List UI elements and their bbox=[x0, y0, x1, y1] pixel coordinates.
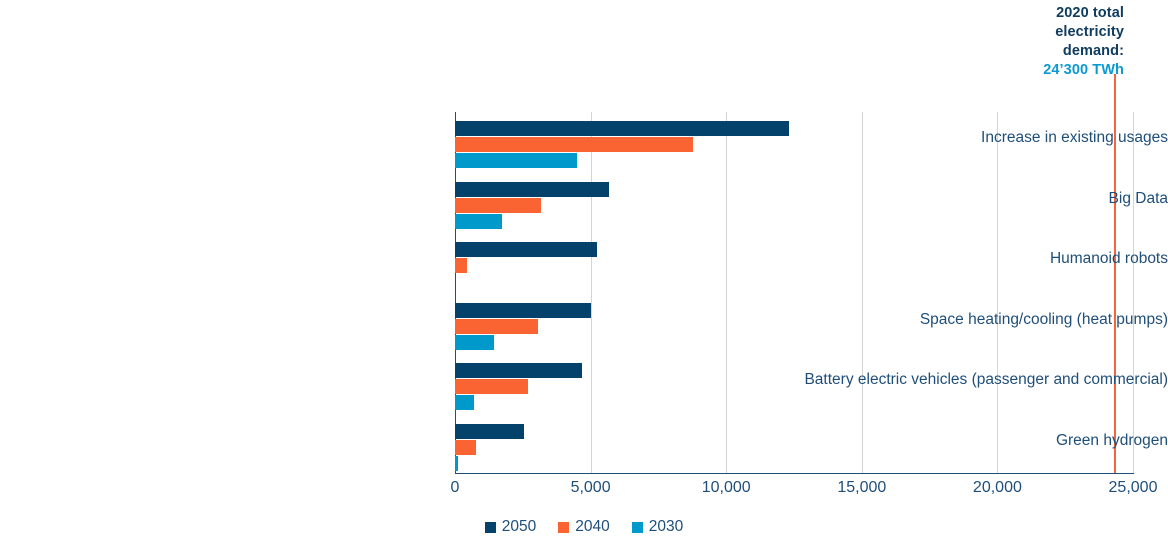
bar-2050[interactable] bbox=[455, 363, 582, 378]
x-tick-label: 0 bbox=[410, 479, 500, 497]
legend-item-2030[interactable]: 2030 bbox=[632, 518, 683, 536]
legend-label: 2030 bbox=[649, 518, 683, 536]
category-label: Increase in existing usages bbox=[728, 129, 1168, 147]
legend-swatch-icon bbox=[632, 522, 643, 533]
total-demand-annotation: 2020 total electricity demand: 24’300 TW… bbox=[924, 4, 1124, 80]
bar-2030[interactable] bbox=[455, 456, 458, 471]
x-tick-label: 25,000 bbox=[1088, 479, 1168, 497]
x-tick-label: 15,000 bbox=[817, 479, 907, 497]
bar-chart: 2020 total electricity demand: 24’300 TW… bbox=[0, 0, 1168, 543]
bar-2040[interactable] bbox=[455, 440, 476, 455]
bar-2040[interactable] bbox=[455, 319, 538, 334]
bar-2040[interactable] bbox=[455, 379, 528, 394]
bar-2030[interactable] bbox=[455, 214, 502, 229]
annotation-line-2: electricity bbox=[1055, 24, 1124, 40]
bar-2030[interactable] bbox=[455, 153, 577, 168]
category-label: Green hydrogen bbox=[728, 432, 1168, 450]
bar-2030[interactable] bbox=[455, 335, 494, 350]
bar-2040[interactable] bbox=[455, 258, 467, 273]
legend-label: 2040 bbox=[575, 518, 609, 536]
category-label: Space heating/cooling (heat pumps) bbox=[728, 311, 1168, 329]
x-tick-label: 10,000 bbox=[681, 479, 771, 497]
annotation-value: 24’300 TWh bbox=[924, 61, 1124, 80]
legend-swatch-icon bbox=[558, 522, 569, 533]
category-label: Battery electric vehicles (passenger and… bbox=[728, 371, 1168, 389]
legend-label: 2050 bbox=[502, 518, 536, 536]
x-axis-line bbox=[455, 473, 1134, 474]
legend-item-2050[interactable]: 2050 bbox=[485, 518, 536, 536]
legend-swatch-icon bbox=[485, 522, 496, 533]
bar-2050[interactable] bbox=[455, 182, 609, 197]
bar-2040[interactable] bbox=[455, 137, 693, 152]
category-label: Humanoid robots bbox=[728, 250, 1168, 268]
bar-2040[interactable] bbox=[455, 198, 541, 213]
x-tick-label: 20,000 bbox=[952, 479, 1042, 497]
legend-item-2040[interactable]: 2040 bbox=[558, 518, 609, 536]
annotation-line-3: demand: bbox=[1063, 43, 1124, 59]
chart-legend: 205020402030 bbox=[0, 518, 1168, 536]
annotation-line-1: 2020 total bbox=[1056, 5, 1124, 21]
bar-2050[interactable] bbox=[455, 242, 597, 257]
category-label: Big Data bbox=[728, 190, 1168, 208]
bar-2030[interactable] bbox=[455, 395, 474, 410]
bar-2050[interactable] bbox=[455, 424, 524, 439]
bar-2050[interactable] bbox=[455, 303, 591, 318]
x-tick-label: 5,000 bbox=[546, 479, 636, 497]
plot-area bbox=[455, 112, 1133, 473]
gridline-25000 bbox=[1133, 112, 1134, 473]
